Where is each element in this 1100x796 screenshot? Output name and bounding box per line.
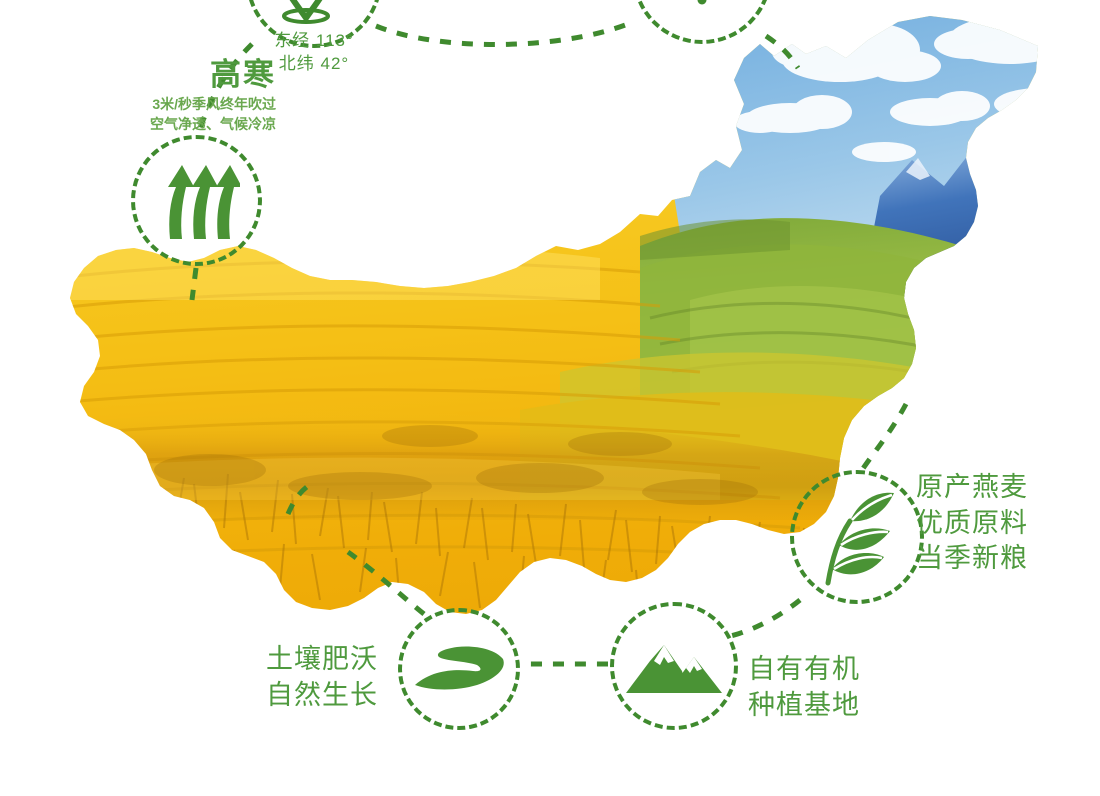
- badge-planting-base[interactable]: [610, 602, 738, 730]
- sun-icon: [674, 0, 730, 14]
- badge-oat-origin[interactable]: [790, 470, 924, 604]
- soil-text: 土壤肥沃 自然生长: [180, 642, 378, 713]
- climate-title: 高寒: [40, 56, 276, 94]
- up-arrows-icon: [154, 161, 240, 241]
- badge-soil[interactable]: [398, 608, 520, 730]
- river-icon: [411, 641, 507, 697]
- location-pin-icon: [278, 0, 334, 28]
- planting-base-text: 自有有机 种植基地: [748, 652, 938, 723]
- climate-subtitle: 3米/秒季风终年吹过 空气净透、气候冷凉: [40, 94, 276, 135]
- infographic-canvas: 东经 113° 北纬 42° 高寒 3米/秒季风终年吹过 空气净透、气候冷凉: [0, 0, 1100, 796]
- badge-climate[interactable]: [131, 135, 262, 266]
- oat-origin-text: 原产燕麦 优质原料 当季新粮: [916, 470, 1096, 577]
- oat-plant-icon: [812, 487, 902, 587]
- mountain-icon: [624, 635, 724, 697]
